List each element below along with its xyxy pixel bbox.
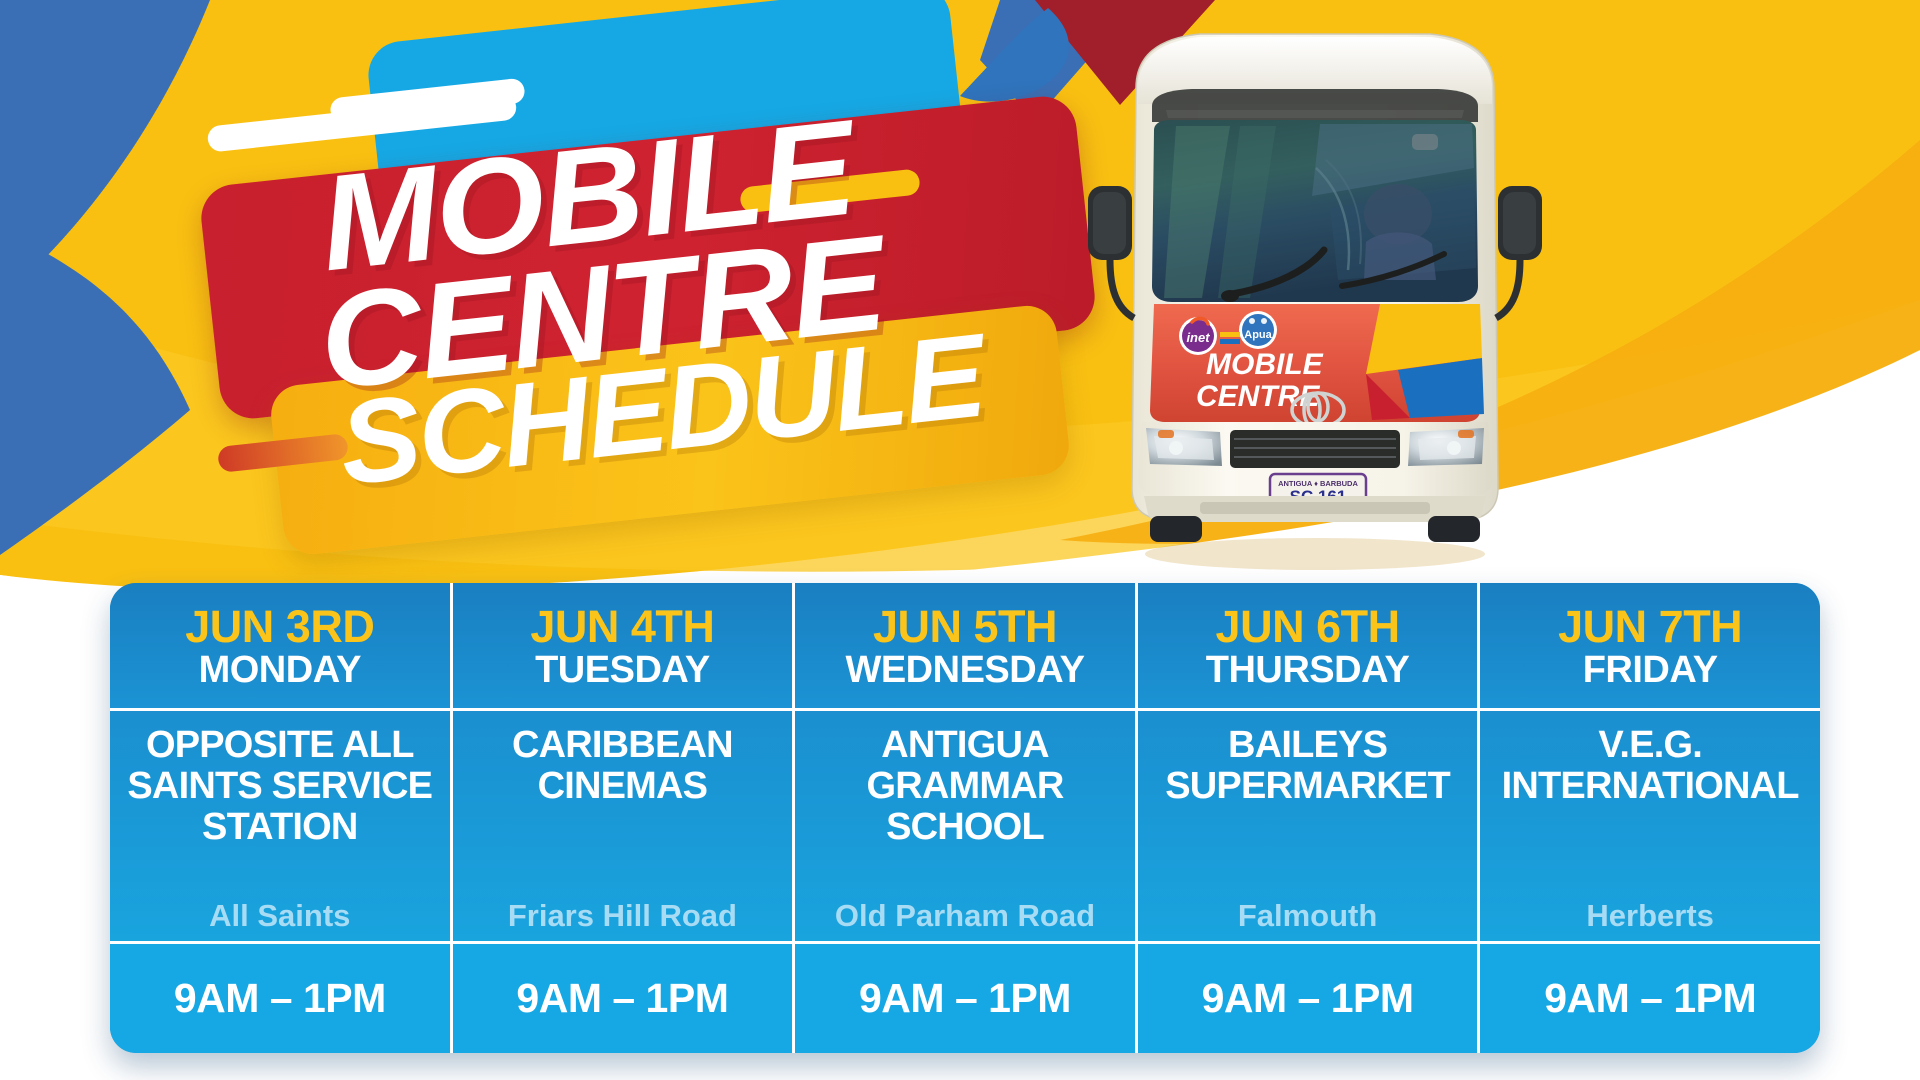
schedule-time-text: 9AM – 1PM — [174, 975, 386, 1022]
schedule-location-cell: OPPOSITE ALL SAINTS SERVICE STATION All … — [110, 711, 450, 941]
schedule-day-text: MONDAY — [199, 649, 361, 693]
schedule-date-cell: JUN 4TH TUESDAY — [453, 583, 793, 711]
schedule-date-cell: JUN 7TH FRIDAY — [1480, 583, 1820, 711]
schedule-location-cell: ANTIGUA GRAMMAR SCHOOL Old Parham Road — [795, 711, 1135, 941]
schedule-location-area: Falmouth — [1238, 900, 1378, 941]
svg-text:inet: inet — [1186, 330, 1210, 345]
schedule-column: JUN 4TH TUESDAY CARIBBEAN CINEMAS Friars… — [453, 583, 796, 1053]
schedule-time-text: 9AM – 1PM — [1202, 975, 1414, 1022]
schedule-column: JUN 7TH FRIDAY V.E.G. INTERNATIONAL Herb… — [1480, 583, 1820, 1053]
schedule-day-text: FRIDAY — [1583, 649, 1718, 693]
schedule-location-area: All Saints — [209, 900, 350, 941]
schedule-time-text: 9AM – 1PM — [516, 975, 728, 1022]
side-mirror-left — [1088, 186, 1134, 318]
schedule-date-text: JUN 5TH — [873, 604, 1057, 649]
svg-text:Apua: Apua — [1244, 329, 1272, 341]
schedule-column: JUN 3RD MONDAY OPPOSITE ALL SAINTS SERVI… — [110, 583, 453, 1053]
schedule-location-area: Friars Hill Road — [508, 900, 737, 941]
schedule-day-text: TUESDAY — [535, 649, 710, 693]
schedule-location-name: ANTIGUA GRAMMAR SCHOOL — [801, 725, 1129, 848]
schedule-time-cell: 9AM – 1PM — [110, 941, 450, 1053]
side-mirror-right — [1496, 186, 1542, 318]
schedule-location-cell: V.E.G. INTERNATIONAL Herberts — [1480, 711, 1820, 941]
schedule-time-cell: 9AM – 1PM — [1138, 941, 1478, 1053]
poster-title-lockup: MOBILE CENTRE SCHEDULE — [0, 0, 1100, 560]
schedule-date-cell: JUN 6TH THURSDAY — [1138, 583, 1478, 711]
schedule-location-cell: BAILEYS SUPERMARKET Falmouth — [1138, 711, 1478, 941]
schedule-column: JUN 6TH THURSDAY BAILEYS SUPERMARKET Fal… — [1138, 583, 1481, 1053]
schedule-location-name: OPPOSITE ALL SAINTS SERVICE STATION — [116, 725, 444, 848]
schedule-table: JUN 3RD MONDAY OPPOSITE ALL SAINTS SERVI… — [110, 583, 1820, 1053]
schedule-location-area: Herberts — [1586, 900, 1714, 941]
schedule-date-text: JUN 3RD — [185, 604, 374, 649]
schedule-location-name: V.E.G. INTERNATIONAL — [1486, 725, 1814, 807]
schedule-location-area: Old Parham Road — [835, 900, 1095, 941]
schedule-time-cell: 9AM – 1PM — [1480, 941, 1820, 1053]
schedule-location-name: CARIBBEAN CINEMAS — [459, 725, 787, 807]
schedule-date-text: JUN 6TH — [1216, 604, 1400, 649]
schedule-time-text: 9AM – 1PM — [1544, 975, 1756, 1022]
schedule-time-cell: 9AM – 1PM — [453, 941, 793, 1053]
schedule-time-text: 9AM – 1PM — [859, 975, 1071, 1022]
mobile-centre-bus-image: inet Apua MOBILE CENTRE — [1080, 18, 1550, 578]
schedule-time-cell: 9AM – 1PM — [795, 941, 1135, 1053]
schedule-location-name: BAILEYS SUPERMARKET — [1144, 725, 1472, 807]
bus-side-text-mobile: MOBILE — [1206, 348, 1324, 381]
schedule-location-cell: CARIBBEAN CINEMAS Friars Hill Road — [453, 711, 793, 941]
schedule-day-text: WEDNESDAY — [845, 649, 1084, 693]
bus-brand-badge-apua: Apua — [1239, 311, 1277, 349]
schedule-date-cell: JUN 3RD MONDAY — [110, 583, 450, 711]
schedule-date-text: JUN 4TH — [530, 604, 714, 649]
schedule-date-cell: JUN 5TH WEDNESDAY — [795, 583, 1135, 711]
schedule-column: JUN 5TH WEDNESDAY ANTIGUA GRAMMAR SCHOOL… — [795, 583, 1138, 1053]
schedule-date-text: JUN 7TH — [1558, 604, 1742, 649]
schedule-day-text: THURSDAY — [1206, 649, 1410, 693]
